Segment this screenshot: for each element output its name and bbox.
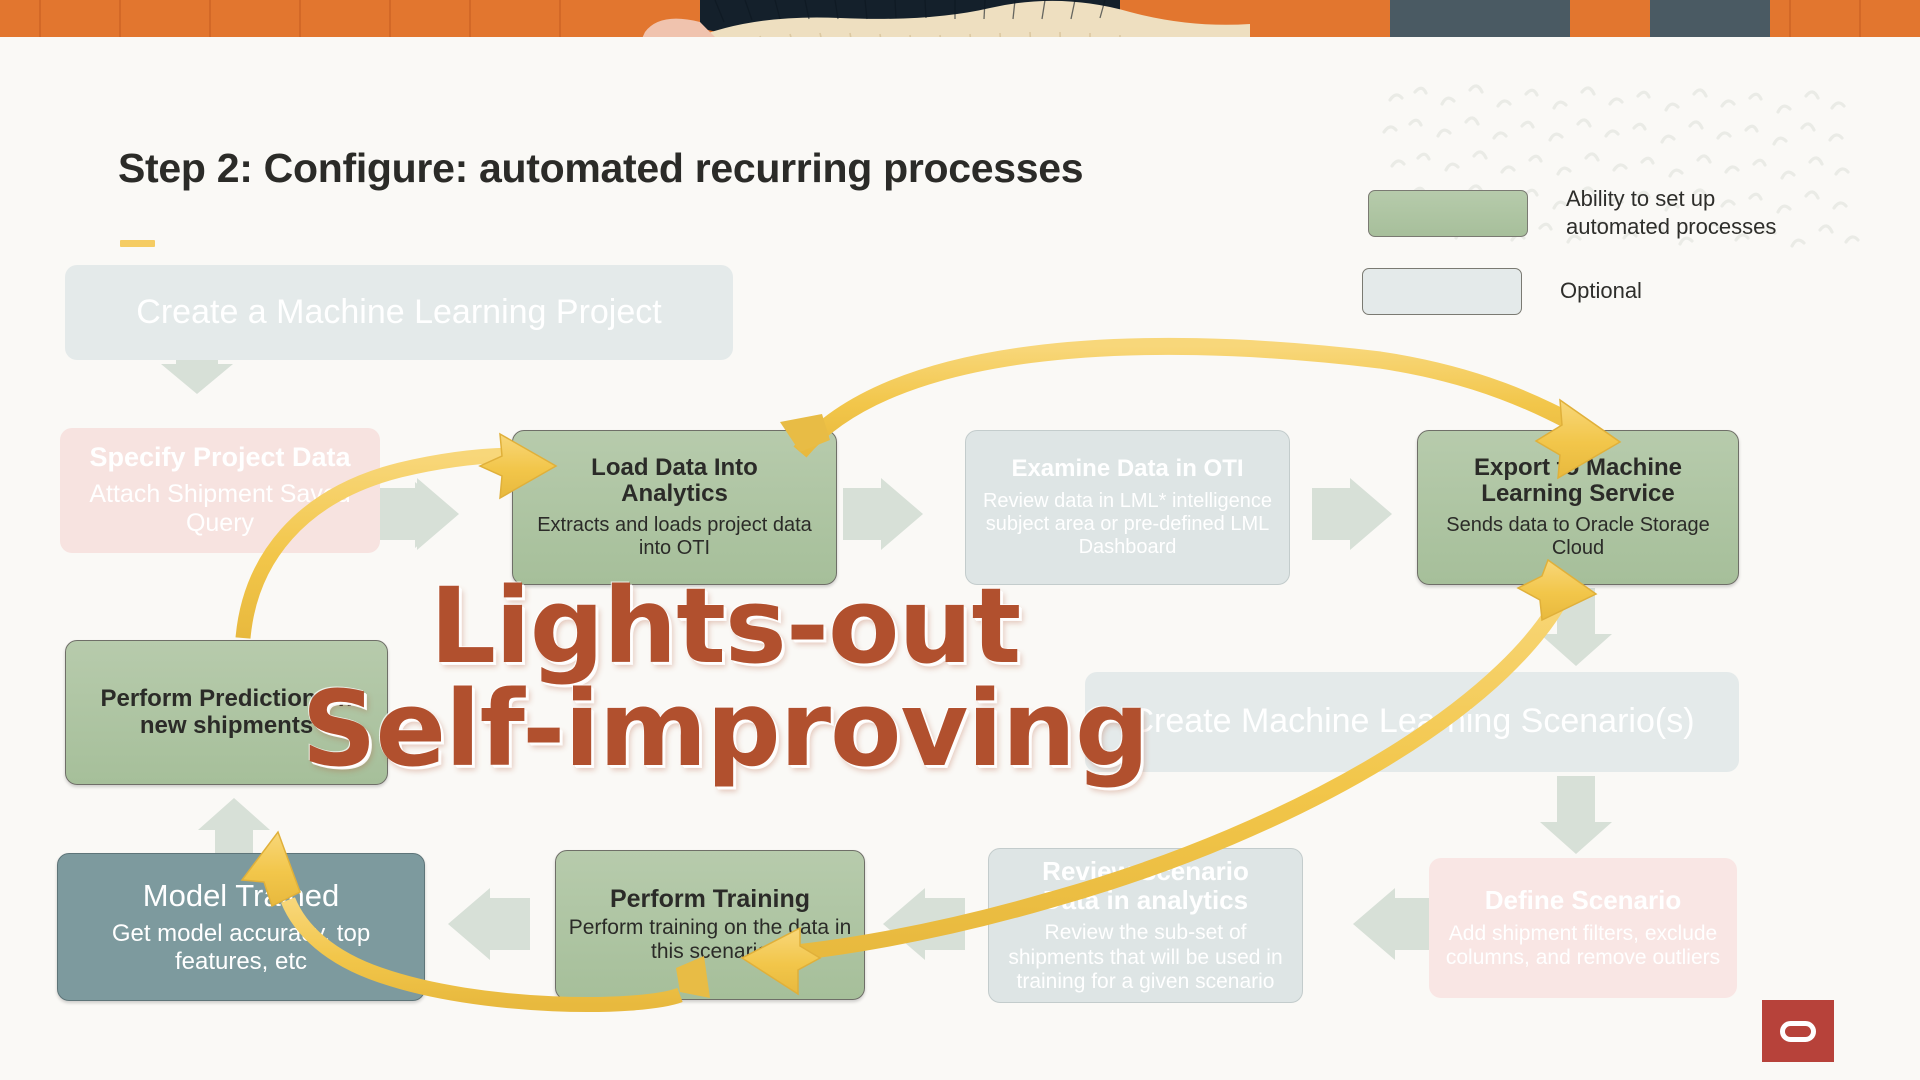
node-title: Define Scenario bbox=[1485, 886, 1682, 915]
node-title: Perform Prediction on new shipments bbox=[87, 686, 367, 739]
node-subtitle: Extracts and loads project data into OTI bbox=[525, 514, 824, 560]
node-load-data-into-analytics[interactable]: Load Data Into Analytics Extracts and lo… bbox=[512, 430, 837, 585]
node-subtitle: Attach Shipment Saved Query bbox=[72, 480, 368, 538]
node-perform-prediction[interactable]: Perform Prediction on new shipments bbox=[65, 640, 388, 785]
node-subtitle: Sends data to Oracle Storage Cloud bbox=[1430, 514, 1726, 560]
node-subtitle: Review the sub-set of shipments that wil… bbox=[1001, 921, 1290, 993]
node-subtitle: Perform training on the data in this sce… bbox=[568, 916, 852, 964]
oracle-logo bbox=[1762, 1000, 1834, 1062]
node-title: Review Scenario Data in analytics bbox=[1031, 857, 1261, 914]
node-title: Load Data Into Analytics bbox=[555, 455, 795, 508]
node-model-trained[interactable]: Model Trained Get model accuracy, top fe… bbox=[57, 853, 425, 1001]
node-title: Export to Machine Learning Service bbox=[1446, 455, 1711, 508]
node-title: Specify Project Data bbox=[89, 443, 350, 473]
node-title: Create Machine Learning Scenario(s) bbox=[1129, 703, 1694, 740]
node-title: Examine Data in OTI bbox=[1011, 456, 1243, 482]
node-specify-project-data[interactable]: Specify Project Data Attach Shipment Sav… bbox=[60, 428, 380, 553]
node-title: Create a Machine Learning Project bbox=[136, 294, 661, 331]
node-create-ml-project[interactable]: Create a Machine Learning Project bbox=[65, 265, 733, 360]
node-create-ml-scenarios[interactable]: Create Machine Learning Scenario(s) bbox=[1085, 672, 1739, 772]
node-subtitle: Get model accuracy, top features, etc bbox=[70, 920, 412, 975]
node-title: Model Trained bbox=[143, 879, 339, 913]
node-title: Perform Training bbox=[610, 886, 810, 914]
node-export-to-ml-service[interactable]: Export to Machine Learning Service Sends… bbox=[1417, 430, 1739, 585]
node-perform-training[interactable]: Perform Training Perform training on the… bbox=[555, 850, 865, 1000]
node-examine-data-in-oti[interactable]: Examine Data in OTI Review data in LML* … bbox=[965, 430, 1290, 585]
node-review-scenario-data[interactable]: Review Scenario Data in analytics Review… bbox=[988, 848, 1303, 1003]
oracle-logo-mark bbox=[1780, 1021, 1816, 1042]
node-subtitle: Review data in LML* intelligence subject… bbox=[978, 490, 1277, 559]
node-subtitle: Add shipment filters, exclude columns, a… bbox=[1441, 922, 1725, 970]
node-define-scenario[interactable]: Define Scenario Add shipment filters, ex… bbox=[1429, 858, 1737, 998]
